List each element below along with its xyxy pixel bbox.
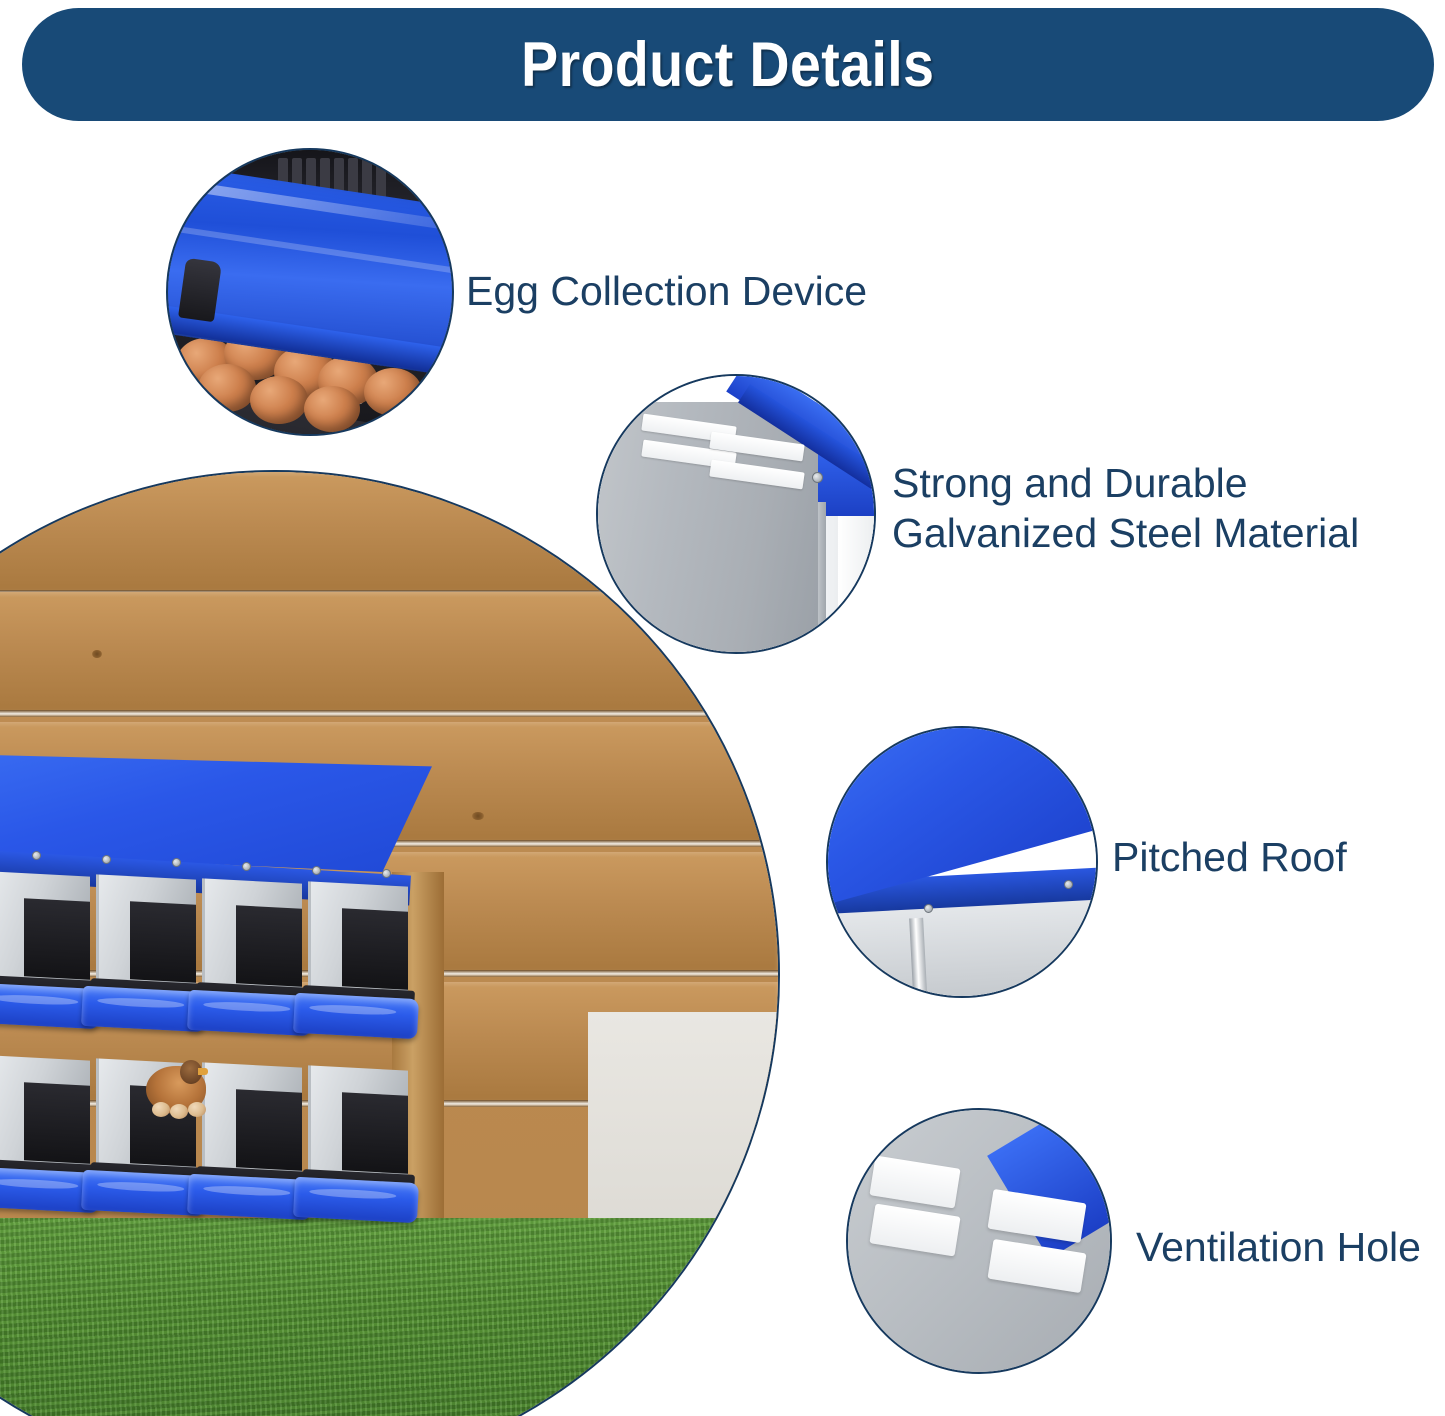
hen-bottom-middle [140, 1054, 214, 1120]
egg-collection-device-label: Egg Collection Device [466, 266, 867, 316]
page-header-banner: Product Details [22, 8, 1434, 121]
page-title: Product Details [521, 29, 934, 101]
ventilation-hole-label: Ventilation Hole [1136, 1222, 1421, 1272]
pitched-roof-label: Pitched Roof [1112, 832, 1347, 882]
vent-slots-icon [846, 1108, 1112, 1374]
product-details-page: Product Details Egg Collection Device [0, 0, 1445, 1416]
roof-icon [826, 726, 1098, 998]
egg-tray-icon [166, 148, 454, 436]
chicken-nesting-box-photo [0, 470, 780, 1416]
galvanized-steel-label: Strong and Durable Galvanized Steel Mate… [892, 458, 1359, 558]
